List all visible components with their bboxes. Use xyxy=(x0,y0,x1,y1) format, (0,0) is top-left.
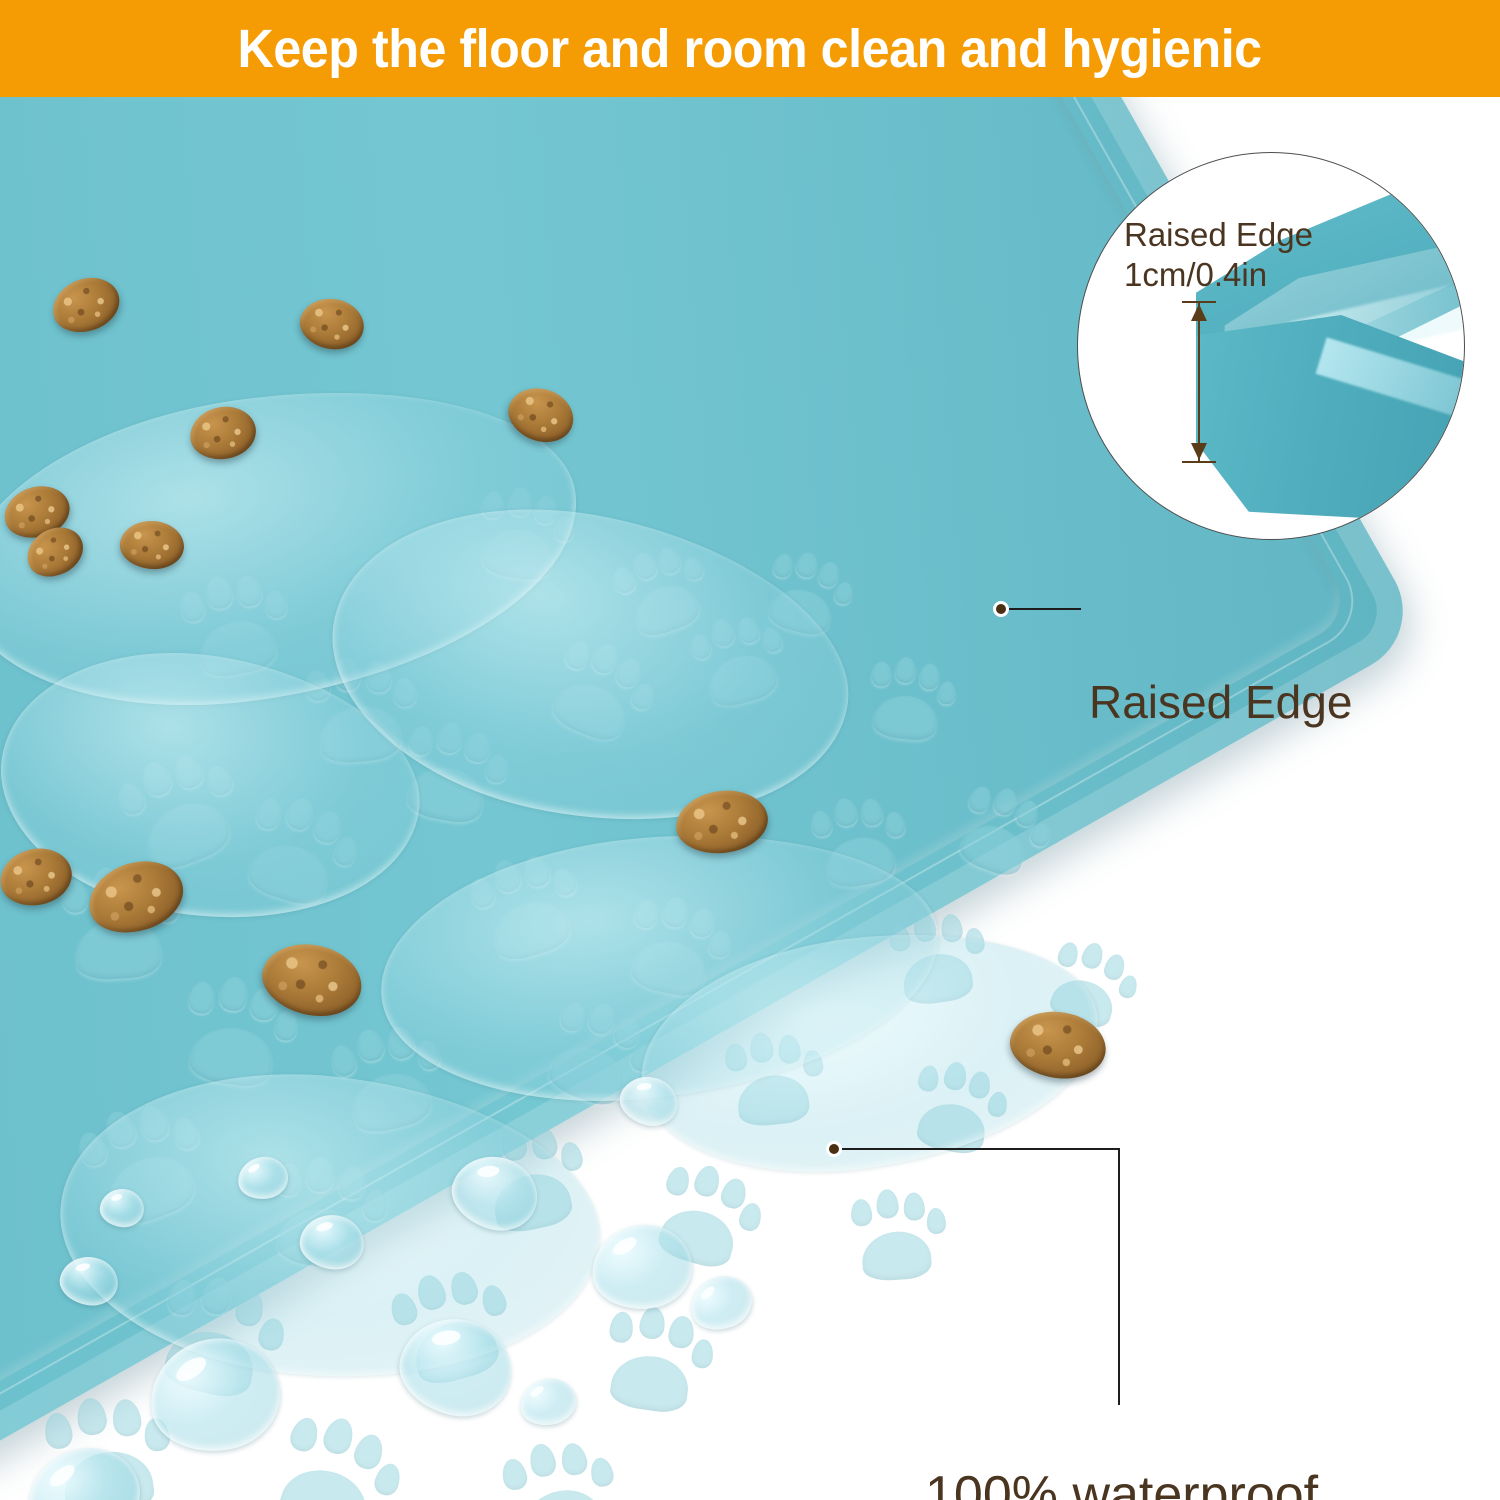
paw-toe-pad xyxy=(588,1455,616,1488)
paw-toe-pad xyxy=(354,1027,386,1065)
paw-toe-pad xyxy=(850,1198,873,1227)
paw-print xyxy=(489,1432,622,1500)
paw-toe-pad xyxy=(287,1414,322,1454)
banner-headline: Keep the floor and room clean and hygien… xyxy=(238,18,1262,80)
paw-toe-pad xyxy=(902,1192,925,1221)
inset-label-line1: Raised Edge xyxy=(1124,215,1313,255)
paw-toe-pad xyxy=(1079,940,1106,971)
paw-toe-pad xyxy=(991,785,1020,817)
paw-toe-pad xyxy=(875,1189,899,1219)
paw-toe-pad xyxy=(558,1440,589,1477)
paw-toe-pad xyxy=(832,796,858,827)
dimension-cap-bottom xyxy=(1182,461,1216,463)
arrowhead-up-icon xyxy=(1191,304,1207,321)
paw-main-pad xyxy=(956,817,1031,880)
paw-toe-pad xyxy=(188,980,217,1015)
waterproof-callout-label: 100% waterproof xyxy=(925,1465,1318,1500)
paw-toe-pad xyxy=(527,1441,559,1479)
paw-toe-pad xyxy=(667,1315,695,1350)
dimension-shaft xyxy=(1198,303,1200,461)
paw-toe-pad xyxy=(638,1305,667,1341)
paw-toe-pad xyxy=(1056,940,1081,969)
paw-toe-pad xyxy=(328,1043,358,1078)
paw-print xyxy=(857,653,953,755)
paw-toe-pad xyxy=(772,552,795,579)
raised-edge-leader-line xyxy=(1009,608,1081,610)
paw-main-pad xyxy=(608,1351,692,1415)
paw-main-pad xyxy=(860,1230,932,1283)
paw-toe-pad xyxy=(918,663,940,690)
raised-edge-detail-inset: Raised Edge 1cm/0.4in xyxy=(1077,152,1465,540)
waterproof-callout-dot xyxy=(826,1141,842,1157)
paw-toe-pad xyxy=(795,550,820,579)
paw-toe-pad xyxy=(817,560,841,588)
water-droplet xyxy=(516,1374,580,1431)
paw-toe-pad xyxy=(967,784,994,814)
paw-toe-pad xyxy=(690,1338,715,1370)
product-marketing-image: Keep the floor and room clean and hygien… xyxy=(0,0,1500,1500)
paw-toe-pad xyxy=(859,797,884,828)
paw-toe-pad xyxy=(608,1310,635,1344)
paw-main-pad xyxy=(873,693,939,742)
paw-toe-pad xyxy=(320,1415,358,1458)
paw-print xyxy=(841,1186,944,1296)
waterproof-leader-horizontal xyxy=(842,1148,1120,1150)
paw-toe-pad xyxy=(500,1457,530,1493)
paw-print xyxy=(588,1300,711,1431)
paw-toe-pad xyxy=(871,661,892,687)
paw-toe-pad xyxy=(926,1208,947,1235)
inset-label-block: Raised Edge 1cm/0.4in xyxy=(1124,215,1313,296)
paw-toe-pad xyxy=(43,1411,75,1450)
paw-toe-pad xyxy=(110,1398,143,1438)
paw-toe-pad xyxy=(809,809,834,839)
paw-toe-pad xyxy=(692,1163,724,1199)
header-banner: Keep the floor and room clean and hygien… xyxy=(0,0,1500,97)
waterproof-leader-vertical xyxy=(1118,1148,1120,1405)
inset-label-line2: 1cm/0.4in xyxy=(1124,255,1313,295)
paw-toe-pad xyxy=(74,1396,108,1437)
raised-edge-callout-dot xyxy=(993,601,1009,617)
paw-toe-pad xyxy=(663,1164,693,1198)
paw-main-pad xyxy=(517,1483,606,1500)
edge-height-dimension-arrow xyxy=(1182,301,1216,463)
paw-toe-pad xyxy=(894,656,917,684)
raised-edge-callout-label: Raised Edge xyxy=(1089,675,1352,729)
arrowhead-down-icon xyxy=(1191,443,1207,460)
paw-toe-pad xyxy=(218,975,249,1012)
